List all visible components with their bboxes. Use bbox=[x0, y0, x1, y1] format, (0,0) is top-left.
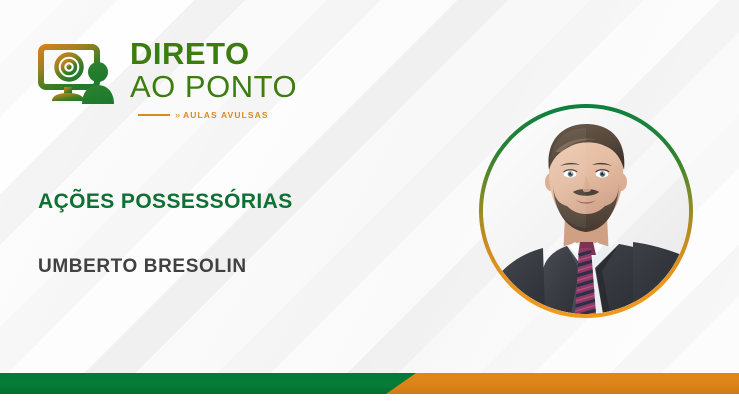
band-segment-green bbox=[0, 373, 420, 394]
avatar bbox=[479, 104, 693, 318]
bottom-color-band bbox=[0, 373, 739, 394]
logo-line-ao-ponto: AO PONTO bbox=[130, 70, 330, 104]
page-title: AÇÕES POSSESSÓRIAS bbox=[38, 190, 293, 214]
tagline-rule-icon bbox=[138, 114, 170, 116]
background-bottom-white-strip bbox=[0, 394, 739, 415]
band-segment-orange bbox=[386, 373, 739, 394]
presenter-name: UMBERTO BRESOLIN bbox=[38, 256, 247, 278]
brand-logo: DIRETO AO PONTO » AULAS AVULSAS bbox=[38, 38, 300, 128]
presenter-photo bbox=[483, 108, 689, 314]
avatar-inner bbox=[483, 108, 689, 314]
logo-line-direto: DIRETO bbox=[130, 38, 330, 70]
logo-tagline: » AULAS AVULSAS bbox=[138, 110, 269, 120]
monitor-target-person-icon bbox=[38, 44, 116, 106]
tagline-text: AULAS AVULSAS bbox=[183, 110, 269, 120]
logo-wordmark: DIRETO AO PONTO bbox=[130, 38, 330, 104]
double-chevron-icon: » bbox=[175, 111, 178, 120]
slide-root: DIRETO AO PONTO » AULAS AVULSAS AÇÕES PO… bbox=[0, 0, 739, 415]
